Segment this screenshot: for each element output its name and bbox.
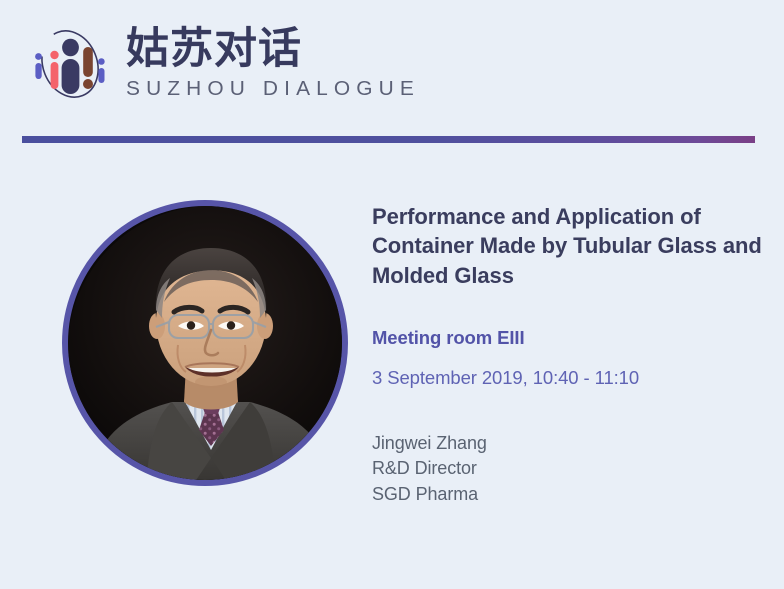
brand-name-cn: 姑苏对话 [126, 27, 414, 72]
avatar-ring [62, 200, 348, 486]
speaker-block: Jingwei Zhang R&D Director SGD Pharma [372, 431, 764, 508]
speaker-portrait-photo [68, 206, 342, 480]
session-details: Performance and Application of Container… [372, 202, 764, 508]
brand-wordmark: 姑苏对话 SUZHOU DIALOGUE [126, 27, 414, 100]
session-datetime: 3 September 2019, 10:40 - 11:10 [372, 367, 764, 389]
speaker-company: SGD Pharma [372, 482, 764, 508]
brand-name-en: SUZHOU DIALOGUE [126, 77, 420, 101]
suzhou-dialogue-logo-icon [28, 22, 112, 106]
session-card: Performance and Application of Container… [0, 150, 784, 589]
speaker-role: R&D Director [372, 456, 764, 482]
avatar [62, 200, 348, 486]
speaker-name: Jingwei Zhang [372, 431, 764, 457]
meeting-room: Meeting room EIII [372, 327, 764, 349]
header-divider [22, 136, 755, 143]
page-header: 姑苏对话 SUZHOU DIALOGUE [0, 0, 784, 130]
brand-logo[interactable]: 姑苏对话 SUZHOU DIALOGUE [28, 22, 414, 106]
page-title: Performance and Application of Container… [372, 202, 764, 290]
